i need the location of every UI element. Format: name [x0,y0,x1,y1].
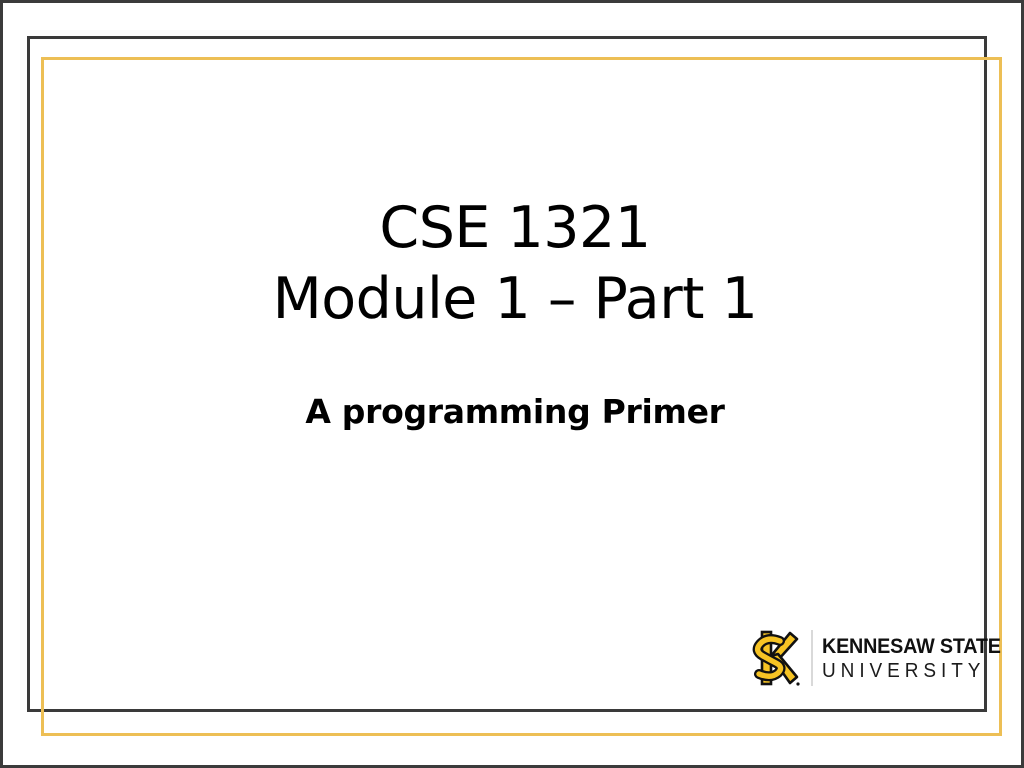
slide-subtitle: A programming Primer [63,392,967,432]
ks-monogram-icon [745,624,807,692]
logo-wordmark: KENNESAW STATE UNIVERSITY [822,636,1012,681]
slide-title: CSE 1321 Module 1 – Part 1 [63,193,967,334]
slide-text-block: CSE 1321 Module 1 – Part 1 A programming… [63,193,967,432]
logo-divider [811,630,813,686]
presentation-slide: CSE 1321 Module 1 – Part 1 A programming… [0,0,1024,768]
logo-line-university: UNIVERSITY [822,661,1003,681]
university-logo: KENNESAW STATE UNIVERSITY [745,623,973,693]
logo-line-kennesaw-state: KENNESAW STATE [822,636,1001,657]
